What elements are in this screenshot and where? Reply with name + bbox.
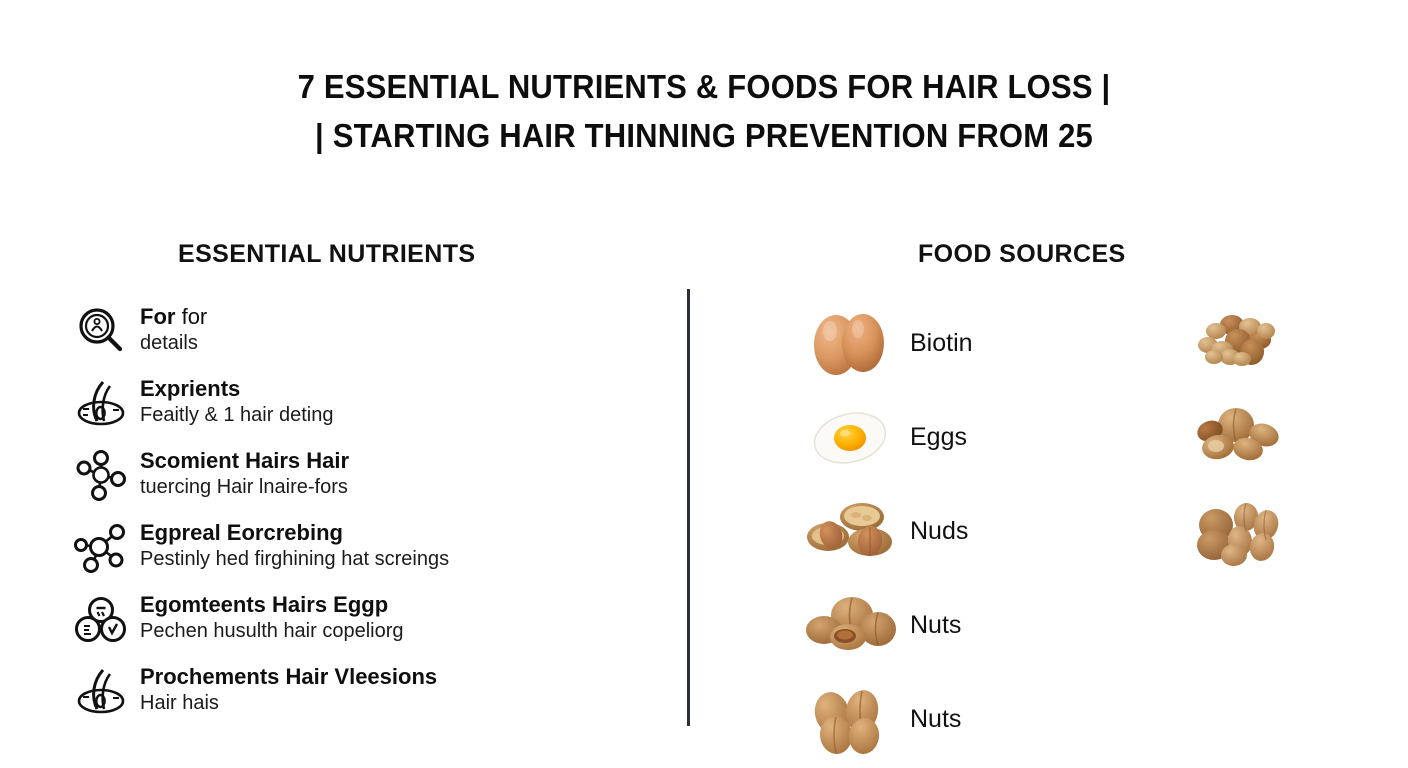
nutrient-description: tuercing Hair lnaire-fors — [140, 474, 349, 500]
magnifier-icon — [72, 302, 130, 360]
nutrient-title-light: for — [182, 304, 208, 329]
nutrient-description: Feaitly & 1 hair deting — [140, 402, 333, 428]
walnuts-photo — [798, 584, 902, 666]
list-item-text: For for details — [130, 300, 207, 356]
brown-eggs-photo — [798, 302, 902, 384]
nutrient-title: Egpreal Eorcrebing — [140, 519, 449, 546]
page-title: 7 ESSENTIAL NUTRIENTS & FOODS FOR HAIR L… — [0, 62, 1408, 160]
nutrient-description: Pestinly hed firghining hat screings — [140, 546, 449, 572]
nutrient-title: For for — [140, 303, 207, 330]
food-label: Biotin — [902, 329, 973, 358]
molecule-icon — [72, 446, 130, 504]
nutrient-description: details — [140, 330, 207, 356]
list-item-text: Scomient Hairs Hair tuercing Hair lnaire… — [130, 444, 349, 500]
hair-follicle-icon — [72, 662, 130, 720]
food-label: Nuts — [902, 705, 961, 734]
nutrient-description: Pechen husulth hair copeliorg — [140, 618, 404, 644]
nutrient-title: Egomteents Hairs Eggp — [140, 591, 404, 618]
list-item — [1186, 390, 1290, 484]
list-item: For for details — [72, 300, 672, 372]
list-item: Nuts — [798, 578, 973, 672]
nutrient-title: Scomient Hairs Hair — [140, 447, 349, 474]
list-item — [1186, 484, 1290, 578]
page-title-line-2: | STARTING HAIR THINNING PREVENTION FROM… — [42, 111, 1366, 160]
walnut-almond-photo — [798, 490, 902, 572]
essential-nutrients-heading: ESSENTIAL NUTRIENTS — [178, 240, 475, 269]
mixed-nuts-photo-2 — [1186, 396, 1290, 478]
list-item: Prochements Hair Vleesions Hair hais — [72, 660, 672, 732]
list-item: Biotin — [798, 296, 973, 390]
hair-follicle-icon — [72, 374, 130, 432]
food-sources-heading: FOOD SOURCES — [918, 240, 1126, 269]
list-item — [1186, 296, 1290, 390]
list-item: Egomteents Hairs Eggp Pechen husulth hai… — [72, 588, 672, 660]
extra-food-images — [1186, 296, 1290, 578]
food-label: Nuts — [902, 611, 961, 640]
list-item: Nuts — [798, 672, 973, 766]
list-item-text: Egomteents Hairs Eggp Pechen husulth hai… — [130, 588, 404, 644]
food-label: Nuds — [902, 517, 968, 546]
nutrient-title-bold: For — [140, 304, 175, 329]
nutrient-title: Exprients — [140, 375, 333, 402]
list-item: Nuds — [798, 484, 973, 578]
nutrient-title: Prochements Hair Vleesions — [140, 663, 437, 690]
food-label: Eggs — [902, 423, 967, 452]
list-item-text: Prochements Hair Vleesions Hair hais — [130, 660, 437, 716]
nutrient-list: For for details Exprients Feaitly & 1 ha… — [72, 300, 672, 732]
pills-icon — [72, 590, 130, 648]
nutrient-description: Hair hais — [140, 690, 437, 716]
list-item-text: Exprients Feaitly & 1 hair deting — [130, 372, 333, 428]
column-divider — [687, 289, 690, 726]
molecule-icon — [72, 518, 130, 576]
list-item: Scomient Hairs Hair tuercing Hair lnaire… — [72, 444, 672, 516]
food-sources-list: Biotin Eggs — [798, 296, 973, 766]
list-item-text: Egpreal Eorcrebing Pestinly hed firghini… — [130, 516, 449, 572]
list-item: Eggs — [798, 390, 973, 484]
mixed-nuts-photo-3 — [1186, 490, 1290, 572]
fried-egg-photo — [798, 396, 902, 478]
list-item: Egpreal Eorcrebing Pestinly hed firghini… — [72, 516, 672, 588]
mixed-nuts-photo-1 — [1186, 302, 1290, 384]
almonds-photo — [798, 678, 902, 760]
page-title-line-1: 7 ESSENTIAL NUTRIENTS & FOODS FOR HAIR L… — [42, 62, 1366, 111]
list-item: Exprients Feaitly & 1 hair deting — [72, 372, 672, 444]
